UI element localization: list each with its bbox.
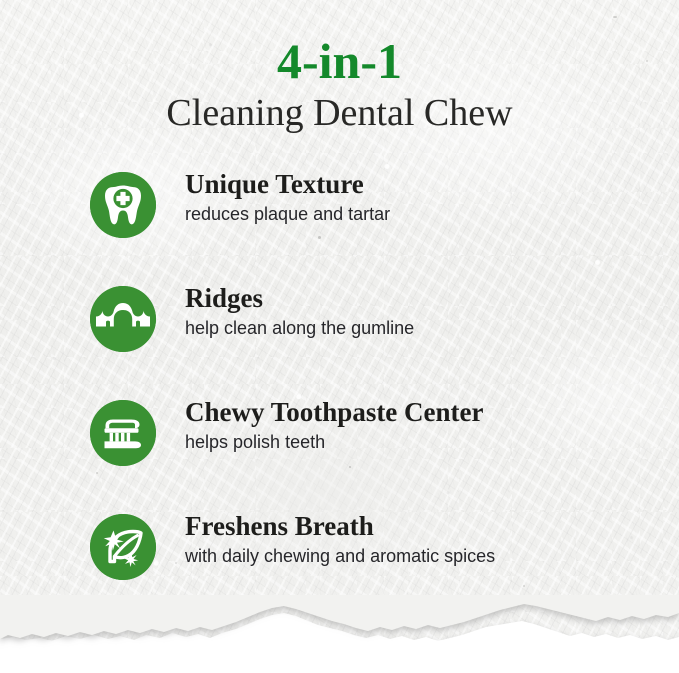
list-item: Unique Texture reduces plaque and tartar — [90, 168, 650, 282]
product-feature-poster: 4-in-1 Cleaning Dental Chew Unique Textu… — [0, 0, 679, 673]
feature-text-block: Freshens Breath with daily chewing and a… — [185, 510, 495, 568]
poster-heading-block: 4-in-1 Cleaning Dental Chew — [0, 34, 679, 136]
list-item: Ridges help clean along the gumline — [90, 282, 650, 396]
feature-description: help clean along the gumline — [185, 316, 414, 340]
toothbrush-icon — [90, 400, 156, 466]
ridges-icon — [90, 286, 156, 352]
feature-title: Chewy Toothpaste Center — [185, 396, 484, 429]
feature-title: Unique Texture — [185, 168, 390, 201]
feature-description: helps polish teeth — [185, 430, 484, 454]
page-title: 4-in-1 — [0, 34, 679, 88]
feature-text-block: Ridges help clean along the gumline — [185, 282, 414, 340]
feature-description: reduces plaque and tartar — [185, 202, 390, 226]
tooth-plus-icon — [90, 172, 156, 238]
mint-leaf-sparkle-icon — [90, 514, 156, 580]
feature-text-block: Unique Texture reduces plaque and tartar — [185, 168, 390, 226]
feature-list: Unique Texture reduces plaque and tartar… — [90, 168, 650, 624]
list-item: Chewy Toothpaste Center helps polish tee… — [90, 396, 650, 510]
page-subtitle: Cleaning Dental Chew — [0, 90, 679, 136]
paper-speck — [613, 16, 617, 18]
feature-text-block: Chewy Toothpaste Center helps polish tee… — [185, 396, 484, 454]
list-item: Freshens Breath with daily chewing and a… — [90, 510, 650, 624]
feature-title: Freshens Breath — [185, 510, 495, 543]
feature-description: with daily chewing and aromatic spices — [185, 544, 495, 568]
feature-title: Ridges — [185, 282, 414, 315]
